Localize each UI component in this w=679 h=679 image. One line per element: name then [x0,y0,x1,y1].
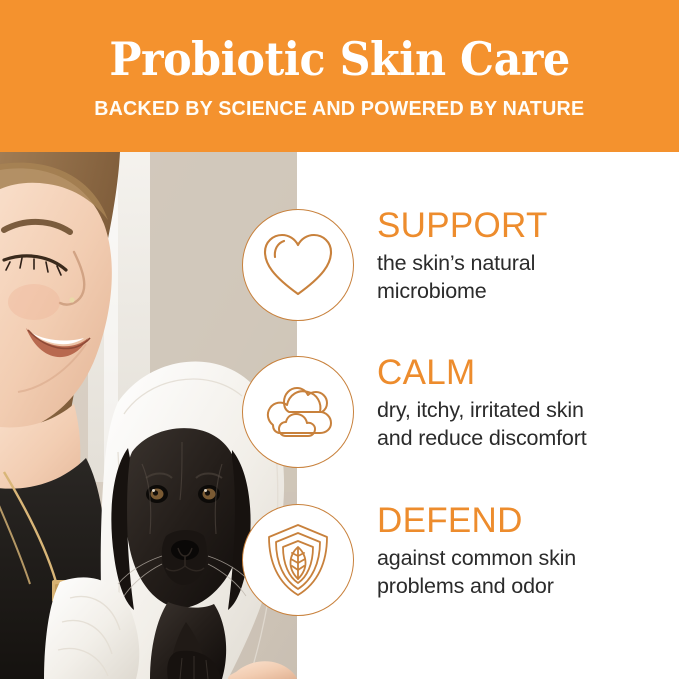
feature-calm-title: CALM [377,355,677,390]
feature-defend-text: DEFEND against common skin problems and … [377,503,677,600]
feature-calm-description-line-1: dry, itchy, irritated skin [377,398,584,422]
cloud-icon [242,356,354,468]
feature-calm-description-line-2: and reduce discomfort [377,426,587,450]
feature-defend-title: DEFEND [377,503,677,538]
feature-defend-description-line-2: problems and odor [377,574,554,598]
feature-support-title: SUPPORT [377,208,677,243]
feature-calm-description: dry, itchy, irritated skin and reduce di… [377,396,677,452]
shield-leaf-icon [242,504,354,616]
page-title: Probiotic Skin Care [109,35,569,83]
feature-support-description-line-2: microbiome [377,279,487,303]
feature-support-text: SUPPORT the skin’s natural microbiome [377,208,677,305]
feature-defend-description: against common skin problems and odor [377,544,677,600]
heart-icon [242,209,354,321]
heart-icon-glyph [261,230,335,300]
feature-support-description-line-1: the skin’s natural [377,251,535,275]
shield-leaf-icon-glyph [264,522,332,598]
feature-support-description: the skin’s natural microbiome [377,249,677,305]
feature-defend-description-line-1: against common skin [377,546,576,570]
cloud-icon-glyph [259,381,337,443]
product-infographic: Probiotic Skin Care BACKED BY SCIENCE AN… [0,0,679,679]
feature-calm-text: CALM dry, itchy, irritated skin and redu… [377,355,677,452]
header-band: Probiotic Skin Care BACKED BY SCIENCE AN… [0,0,679,152]
page-subtitle: BACKED BY SCIENCE AND POWERED BY NATURE [94,97,584,121]
